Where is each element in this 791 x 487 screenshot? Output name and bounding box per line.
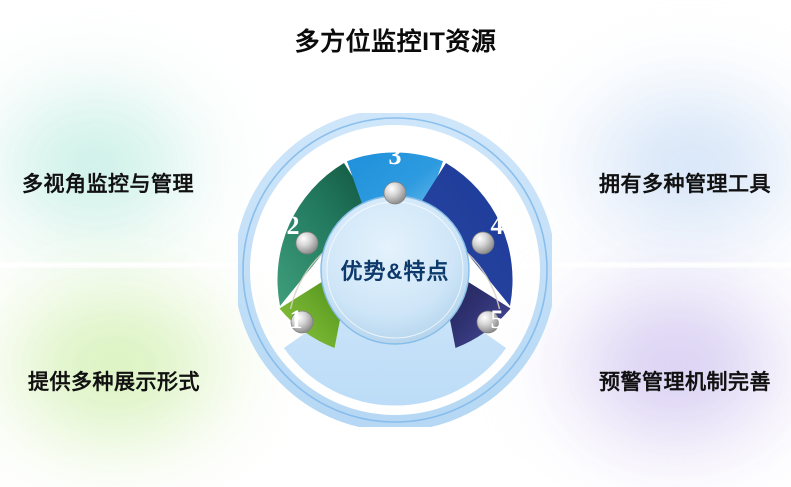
segment-number-4: 4 bbox=[491, 211, 504, 240]
white-wedge-top bbox=[218, 0, 574, 120]
label-top: 多方位监控IT资源 bbox=[0, 22, 791, 58]
label-right-bottom: 预警管理机制完善 bbox=[599, 366, 771, 396]
segmented-ring-wheel: 1 2 3 4 5 bbox=[238, 113, 552, 427]
diagram-canvas: 1 2 3 4 5 优势&特点 多方位监控IT资源 多视角监控与管理 提供多种展… bbox=[0, 0, 791, 487]
marker-ball-3[interactable] bbox=[384, 182, 406, 204]
label-left-top: 多视角监控与管理 bbox=[22, 168, 194, 198]
segment-number-2: 2 bbox=[287, 211, 300, 240]
segment-number-5: 5 bbox=[491, 305, 504, 334]
segment-number-1: 1 bbox=[290, 305, 303, 334]
label-left-bottom: 提供多种展示形式 bbox=[28, 366, 200, 396]
label-right-top: 拥有多种管理工具 bbox=[599, 168, 771, 198]
center-disc bbox=[321, 196, 469, 344]
segment-number-3: 3 bbox=[389, 141, 402, 170]
